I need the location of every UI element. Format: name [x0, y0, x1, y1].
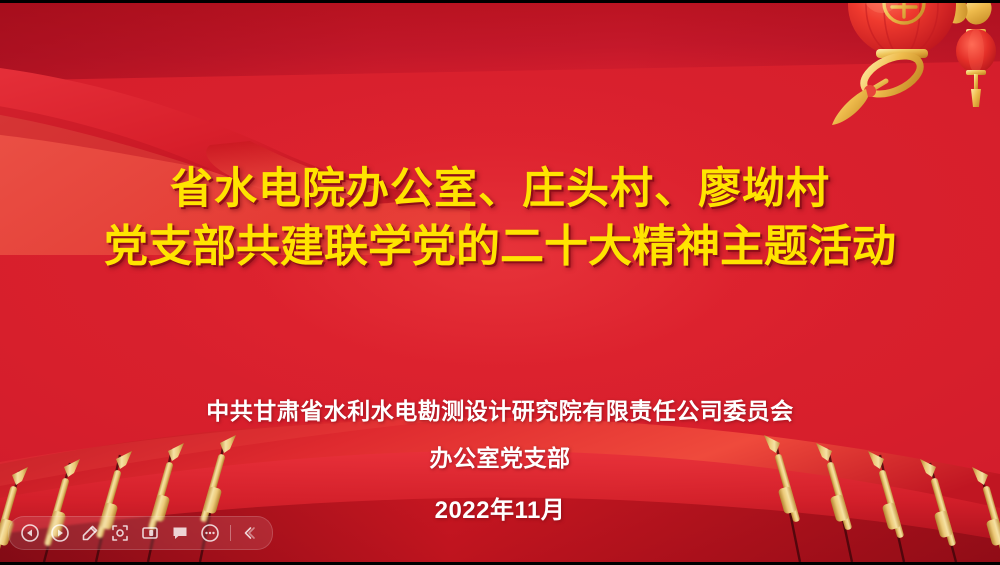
organization-block: 中共甘肃省水利水电勘测设计研究院有限责任公司委员会 办公室党支部: [0, 388, 1000, 482]
comment-button[interactable]: [167, 520, 193, 546]
laser-focus-button[interactable]: [107, 520, 133, 546]
lantern-decoration: [816, 3, 1000, 158]
letterbox-top: [0, 0, 1000, 3]
presentation-toolbar[interactable]: [8, 516, 273, 550]
previous-slide-button[interactable]: [17, 520, 43, 546]
organization-line-2: 办公室党支部: [0, 435, 1000, 482]
organization-line-1: 中共甘肃省水利水电勘测设计研究院有限责任公司委员会: [0, 388, 1000, 435]
title-line-1: 省水电院办公室、庄头村、廖坳村: [0, 161, 1000, 218]
collapse-toolbar-button[interactable]: [236, 520, 262, 546]
toolbar-divider: [230, 525, 231, 541]
pen-annotate-button[interactable]: [77, 520, 103, 546]
presentation-slide: 省水电院办公室、庄头村、廖坳村 党支部共建联学党的二十大精神主题活动 中共甘肃省…: [0, 0, 1000, 565]
slide-canvas: 省水电院办公室、庄头村、廖坳村 党支部共建联学党的二十大精神主题活动 中共甘肃省…: [0, 3, 1000, 562]
title-line-2: 党支部共建联学党的二十大精神主题活动: [0, 218, 1000, 275]
slide-title: 省水电院办公室、庄头村、廖坳村 党支部共建联学党的二十大精神主题活动: [0, 161, 1000, 275]
play-slide-button[interactable]: [47, 520, 73, 546]
present-screen-button[interactable]: [137, 520, 163, 546]
more-options-button[interactable]: [197, 520, 223, 546]
